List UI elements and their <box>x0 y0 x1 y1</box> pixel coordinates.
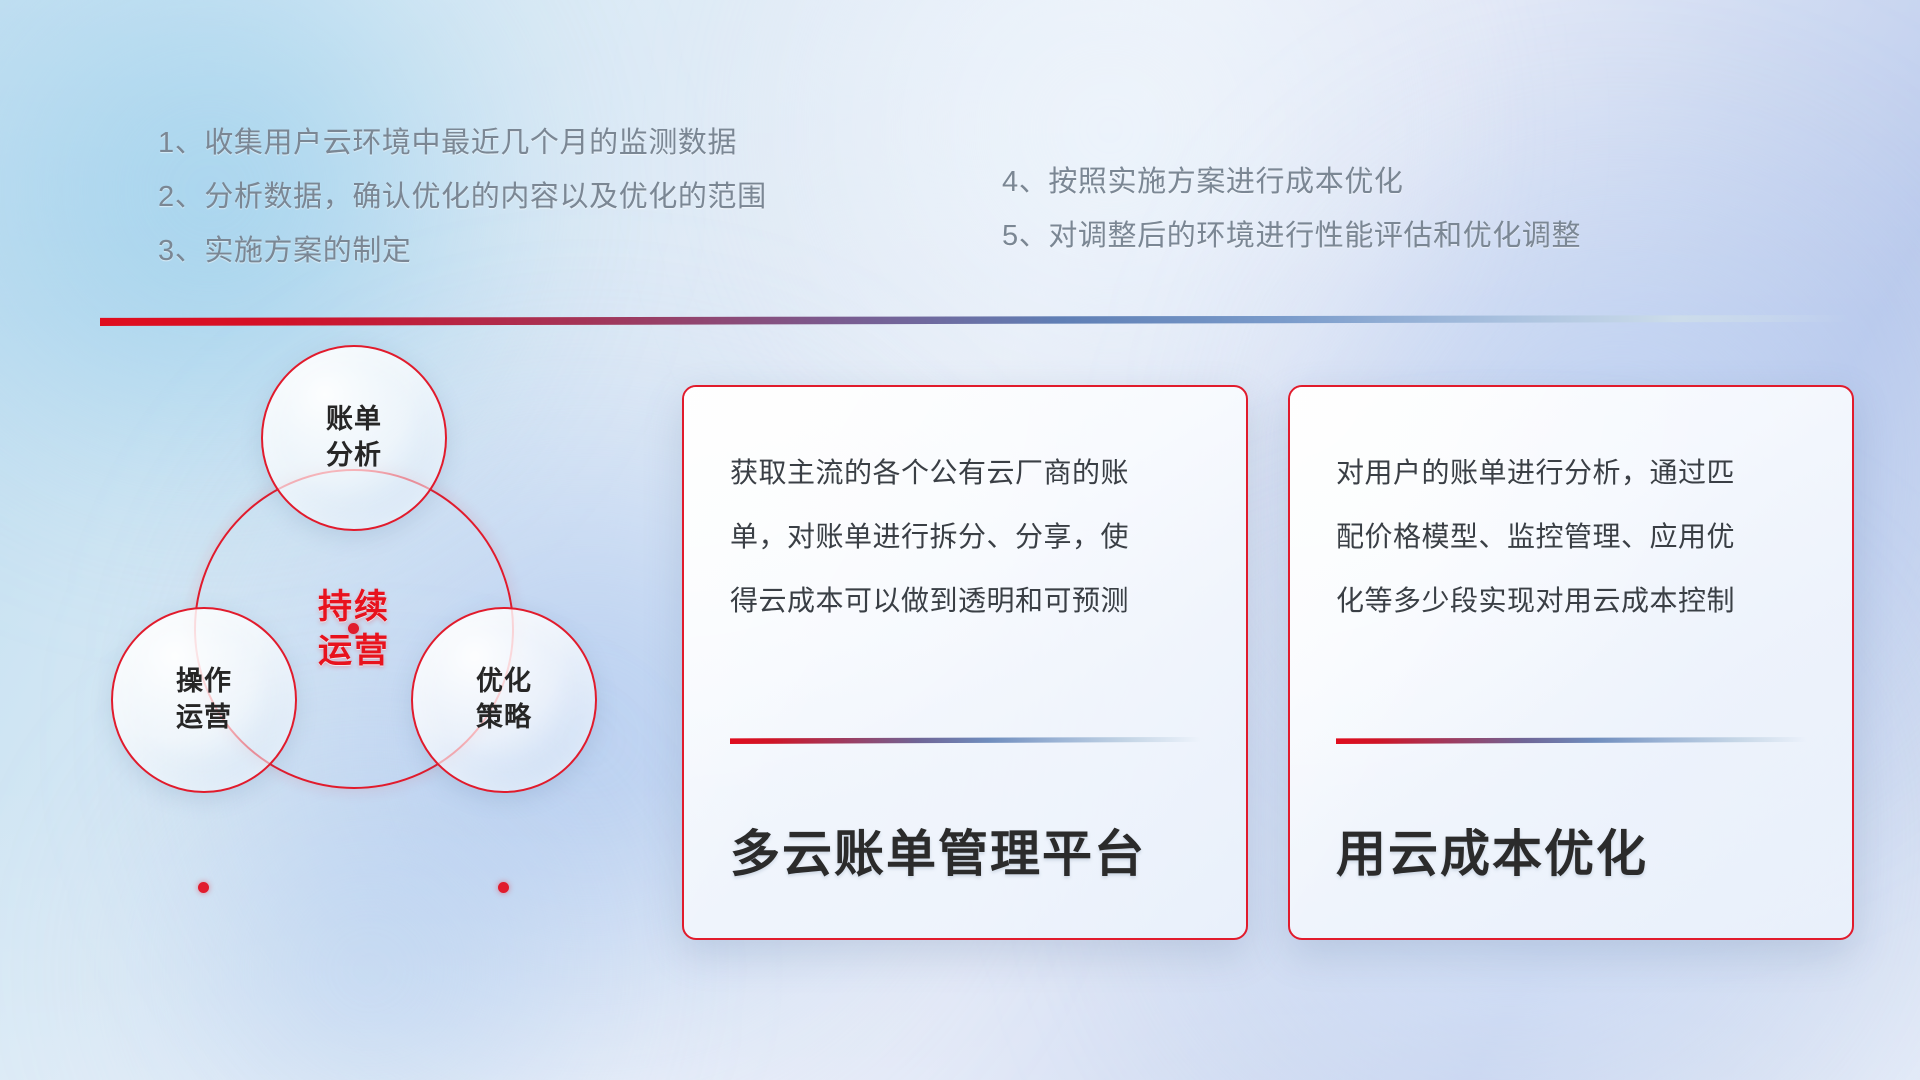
card-1-body-line-1: 获取主流的各个公有云厂商的账 <box>730 441 1200 505</box>
venn-right-line1: 优化 <box>476 664 532 700</box>
card-1-body-line-3: 得云成本可以做到透明和可预测 <box>730 569 1200 633</box>
card-1-rule <box>730 737 1200 744</box>
card-2-body-line-1: 对用户的账单进行分析，通过匹 <box>1336 441 1806 505</box>
card-2-rule <box>1336 737 1806 744</box>
steps-right-column: 4、按照实施方案进行成本优化 5、对调整后的环境进行性能评估和优化调整 <box>1002 155 1581 263</box>
venn-circle-top-label: 账单 分析 <box>326 402 382 473</box>
venn-circle-right-label: 优化 策略 <box>476 664 532 735</box>
step-item-1: 1、收集用户云环境中最近几个月的监测数据 <box>158 116 767 170</box>
venn-node-dot-right <box>498 882 509 893</box>
step-item-2: 2、分析数据，确认优化的内容以及优化的范围 <box>158 170 767 224</box>
card-2-body-line-3: 化等多少段实现对用云成本控制 <box>1336 569 1806 633</box>
card-1-title: 多云账单管理平台 <box>730 814 1146 886</box>
venn-top-line2: 分析 <box>326 438 382 474</box>
venn-diagram: 账单 分析 操作 运营 优化 策略 持续 运营 <box>95 345 615 945</box>
card-2-body-line-2: 配价格模型、监控管理、应用优 <box>1336 505 1806 569</box>
steps-left-column: 1、收集用户云环境中最近几个月的监测数据 2、分析数据，确认优化的内容以及优化的… <box>158 116 767 278</box>
venn-left-line1: 操作 <box>176 664 232 700</box>
card-1-body-line-2: 单，对账单进行拆分、分享，使 <box>730 505 1200 569</box>
step-item-3: 3、实施方案的制定 <box>158 224 767 278</box>
card-cloud-cost-optimization[interactable]: 对用户的账单进行分析，通过匹 配价格模型、监控管理、应用优 化等多少段实现对用云… <box>1288 385 1854 940</box>
step-item-5: 5、对调整后的环境进行性能评估和优化调整 <box>1002 209 1581 263</box>
card-2-title: 用云成本优化 <box>1336 814 1648 886</box>
venn-node-dot-top <box>348 623 359 634</box>
step-item-4: 4、按照实施方案进行成本优化 <box>1002 155 1581 209</box>
section-divider <box>100 315 1850 326</box>
card-2-body: 对用户的账单进行分析，通过匹 配价格模型、监控管理、应用优 化等多少段实现对用云… <box>1290 387 1852 633</box>
divider-bar <box>100 315 1850 326</box>
venn-top-line1: 账单 <box>326 402 382 438</box>
venn-right-line2: 策略 <box>476 700 532 736</box>
card-multi-cloud-billing-platform[interactable]: 获取主流的各个公有云厂商的账 单，对账单进行拆分、分享，使 得云成本可以做到透明… <box>682 385 1248 940</box>
venn-left-line2: 运营 <box>176 700 232 736</box>
card-1-body: 获取主流的各个公有云厂商的账 单，对账单进行拆分、分享，使 得云成本可以做到透明… <box>684 387 1246 633</box>
venn-node-dot-left <box>198 882 209 893</box>
venn-center-line2: 运营 <box>318 629 390 673</box>
venn-circle-left-label: 操作 运营 <box>176 664 232 735</box>
